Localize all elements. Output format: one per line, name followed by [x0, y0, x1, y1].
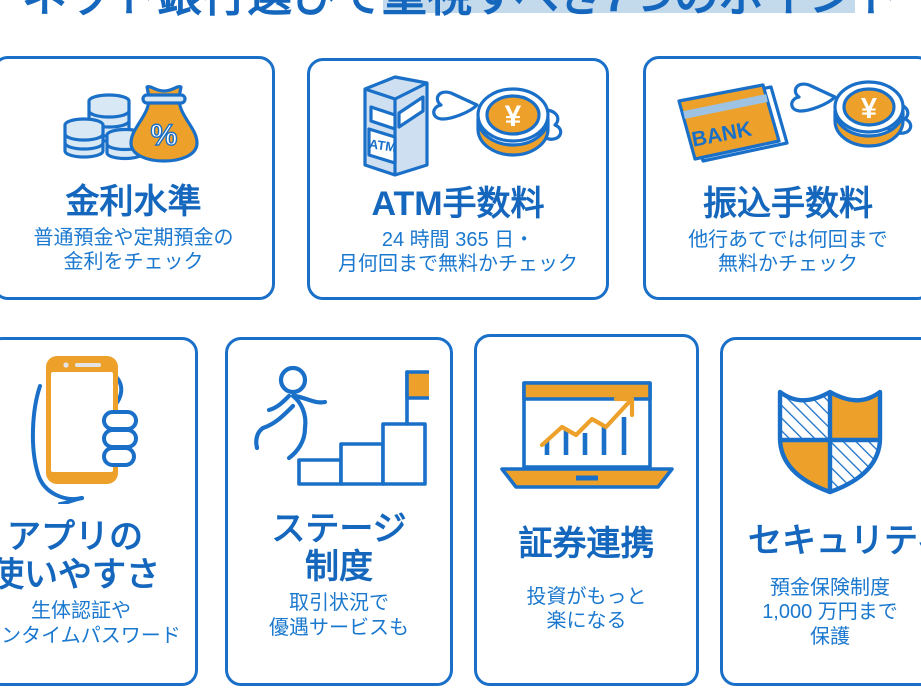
card-sub-securities-linkage: 投資がもっと 楽になる — [527, 585, 647, 634]
page-title-area: ネット銀行選びで重視すべき7つのポイント — [0, 0, 921, 32]
yen-glyph: ¥ — [505, 100, 522, 133]
yen-glyph: ¥ — [861, 93, 877, 125]
card-title-interest-rate: 金利水準 — [66, 183, 202, 221]
atm-winged-coin-icon: ATM ¥ — [343, 67, 573, 179]
laptop-growth-chart-icon — [498, 377, 676, 491]
card-title-security: セキュリティ — [748, 522, 921, 560]
card-sub-app-usability: 生体認証や ワンタイムパスワード — [0, 599, 181, 648]
shield-icon — [772, 384, 888, 496]
page-title: ネット銀行選びで重視すべき7つのポイント — [0, 0, 921, 22]
card-transfer-fee[interactable]: BANK ¥ 振込手数料 他行あてでは何回ま — [643, 56, 921, 300]
card-sub-security: 預金保険制度 1,000 万円まで 保護 — [762, 576, 898, 649]
card-interest-rate[interactable]: % 金利水準 普通預金や定期預金の 金利をチェック — [0, 56, 275, 300]
card-title-stage-program: ステージ 制度 — [271, 510, 406, 586]
card-sub-atm-fee: 24 時間 365 日・ 月何回まで無料かチェック — [338, 228, 578, 277]
card-title-app-usability: アプリの 使いやすさ — [0, 518, 160, 594]
money-bag-percent-icon: % — [59, 73, 209, 173]
percent-glyph: % — [150, 119, 177, 152]
card-stage-program[interactable]: ステージ 制度 取引状況で 優遇サービスも — [225, 337, 453, 686]
runner-stairs-flag-icon — [249, 362, 429, 490]
bank-card-winged-coin-icon: BANK ¥ — [663, 69, 913, 173]
card-security[interactable]: セキュリティ 預金保険制度 1,000 万円まで 保護 — [720, 337, 921, 686]
card-atm-fee[interactable]: ATM ¥ ATM手数料 24 時間 365 — [307, 58, 609, 300]
card-title-securities-linkage: 証券連携 — [519, 525, 655, 563]
card-sub-transfer-fee: 他行あてでは何回まで 無料かチェック — [688, 228, 888, 277]
card-sub-stage-program: 取引状況で 優遇サービスも — [269, 591, 409, 640]
card-securities-linkage[interactable]: 証券連携 投資がもっと 楽になる — [474, 334, 699, 686]
card-title-atm-fee: ATM手数料 — [371, 185, 544, 223]
hand-smartphone-icon — [22, 352, 162, 504]
card-title-transfer-fee: 振込手数料 — [703, 185, 873, 223]
card-sub-interest-rate: 普通預金や定期預金の 金利をチェック — [34, 226, 234, 275]
infographic-page: ネット銀行選びで重視すべき7つのポイント — [0, 0, 921, 691]
card-app-usability[interactable]: アプリの 使いやすさ 生体認証や ワンタイムパスワード — [0, 337, 198, 686]
